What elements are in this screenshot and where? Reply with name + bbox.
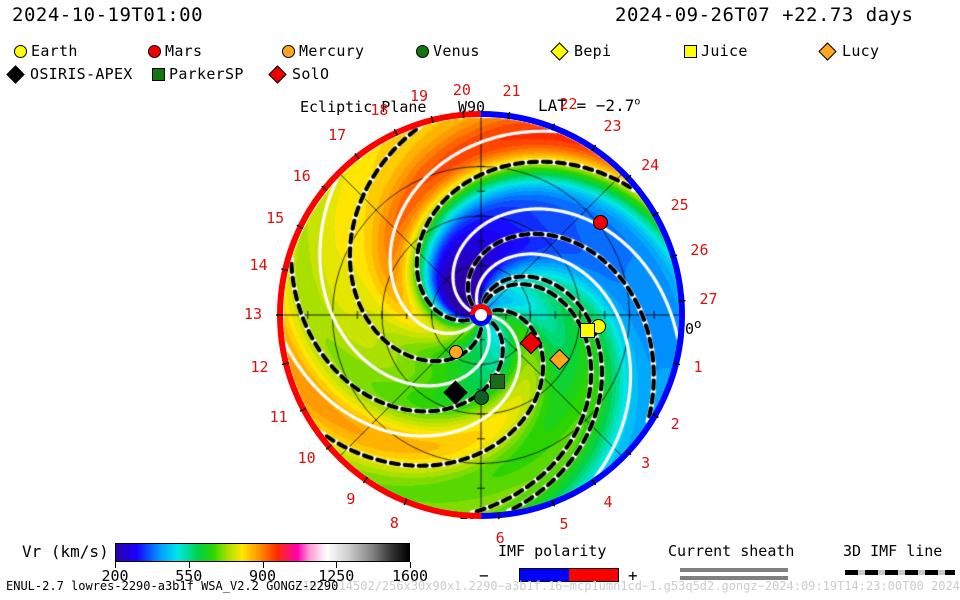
sun-marker-icon	[470, 304, 492, 326]
hour-tick	[552, 500, 555, 507]
hour-tick	[282, 363, 289, 365]
legend-item-osiris-apex: OSIRIS-APEX	[6, 63, 133, 85]
hour-label-25: 25	[671, 198, 689, 213]
current-sheath-title: Current sheath	[668, 542, 794, 560]
legend-label: Venus	[433, 42, 480, 60]
hour-label-27: 27	[699, 292, 717, 307]
hour-tick	[355, 153, 359, 159]
imf-line-title: 3D IMF line	[843, 542, 942, 560]
bepi-marker-icon	[550, 42, 568, 60]
hour-tick	[626, 175, 631, 180]
current-sheath-swatch-top	[680, 568, 788, 572]
hour-tick	[626, 450, 631, 455]
hour-label-26: 26	[690, 243, 708, 258]
mercury-marker-icon	[449, 345, 463, 359]
hour-label-12: 12	[250, 360, 268, 375]
hour-label-9: 9	[346, 492, 355, 507]
hour-label-2: 2	[671, 417, 680, 432]
juice-marker-icon	[684, 45, 697, 58]
footer-model-info: ENUL-2.7 lowres-2290-a3b1f WSA_V2.2 GONG…	[6, 579, 338, 593]
hour-label-14: 14	[250, 258, 268, 273]
hour-tick	[322, 186, 327, 190]
lucy-marker-icon	[818, 42, 836, 60]
hour-tick	[300, 408, 306, 411]
legend-label: Juice	[701, 42, 748, 60]
hour-label-23: 23	[603, 119, 621, 134]
hour-tick	[431, 116, 433, 123]
earth-marker-icon	[14, 45, 27, 58]
hour-label-24: 24	[641, 158, 659, 173]
header-timestamp-right: 2024-09-26T07 +22.73 days	[615, 4, 913, 26]
hour-label-3: 3	[641, 456, 650, 471]
legend-item-mercury: Mercury	[282, 40, 364, 62]
legend-item-venus: Venus	[416, 40, 480, 62]
hour-tick	[652, 213, 658, 217]
hour-tick	[297, 225, 303, 228]
hour-label-13: 13	[244, 307, 262, 322]
hour-label-4: 4	[603, 495, 612, 510]
hour-tick	[652, 414, 658, 418]
legend-label: ParkerSP	[169, 65, 244, 83]
mercury-marker-icon	[282, 45, 295, 58]
legend-item-lucy: Lucy	[818, 40, 879, 62]
header-timestamp-left: 2024-10-19T01:00	[12, 4, 203, 26]
hour-tick	[404, 499, 407, 505]
legend-label: Earth	[31, 42, 78, 60]
footer-watermark: UE1018214502/256x30x90x1.2290−a3b1f.16−m…	[288, 579, 960, 593]
legend-label: SolO	[292, 65, 329, 83]
hour-tick	[670, 255, 677, 257]
hour-label-19: 19	[410, 89, 428, 104]
hour-label-17: 17	[328, 128, 346, 143]
parkersp-marker-icon	[152, 68, 165, 81]
hour-tick	[363, 477, 367, 483]
legend-item-juice: Juice	[684, 40, 748, 62]
zero-degree-label: 0o	[685, 316, 702, 338]
hour-label-18: 18	[370, 103, 388, 118]
velocity-colorbar	[115, 543, 410, 562]
hour-tick	[394, 129, 397, 135]
venus-marker-icon	[416, 45, 429, 58]
hour-label-1: 1	[693, 360, 702, 375]
hour-label-21: 21	[502, 84, 520, 99]
hour-label-15: 15	[266, 211, 284, 226]
hour-tick	[592, 479, 596, 485]
hour-label-11: 11	[270, 410, 288, 425]
hour-tick	[552, 124, 555, 131]
legend-label: Bepi	[574, 42, 611, 60]
legend-label: Lucy	[842, 42, 879, 60]
colorbar-label: Vr (km/s)	[22, 542, 109, 561]
hour-label-22: 22	[559, 97, 577, 112]
hour-tick	[592, 145, 596, 151]
osiris-apex-marker-icon	[6, 65, 24, 83]
hour-tick	[326, 445, 331, 450]
legend-item-bepi: Bepi	[550, 40, 611, 62]
legend-item-earth: Earth	[14, 40, 78, 62]
imf-line-swatch-dash	[845, 570, 955, 575]
hour-tick	[509, 112, 510, 119]
juice-marker-icon	[580, 323, 595, 338]
venus-marker-icon	[474, 390, 489, 405]
solo-marker-icon	[268, 65, 286, 83]
imf-polarity-title: IMF polarity	[498, 542, 606, 560]
legend-label: OSIRIS-APEX	[30, 65, 133, 83]
hour-label-16: 16	[293, 169, 311, 184]
parkersp-marker-icon	[490, 374, 505, 389]
hour-tick	[281, 269, 288, 271]
hour-label-20: 20	[453, 83, 471, 98]
hour-label-10: 10	[298, 451, 316, 466]
mars-marker-icon	[593, 215, 608, 230]
legend-item-parkersp: ParkerSP	[152, 63, 244, 85]
mars-marker-icon	[148, 45, 161, 58]
ecliptic-plane-plot[interactable]: Ecliptic Plane W90 E90 LAT = −2.7o 20212…	[266, 100, 696, 530]
hour-label-5: 5	[559, 517, 568, 532]
legend-label: Mars	[165, 42, 202, 60]
hour-tick	[673, 363, 680, 365]
legend-item-mars: Mars	[148, 40, 202, 62]
legend-label: Mercury	[299, 42, 364, 60]
hour-label-8: 8	[390, 516, 399, 531]
hour-tick	[498, 512, 499, 519]
hour-tick	[463, 111, 464, 118]
legend-item-solo: SolO	[268, 63, 329, 85]
